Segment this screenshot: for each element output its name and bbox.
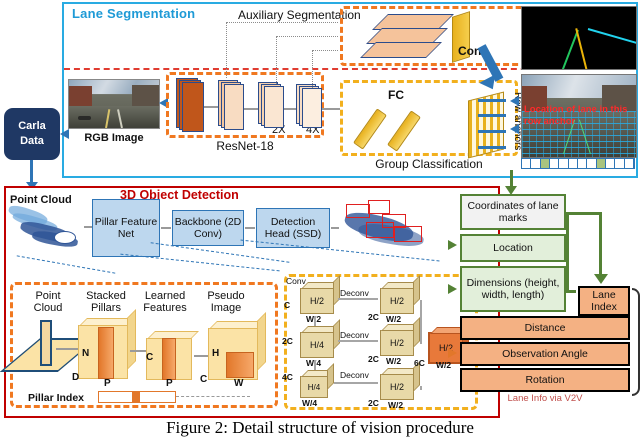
pillar-index-bar (98, 391, 176, 403)
flow-learned-to-pseudo (194, 355, 208, 357)
detail-header-learned-features: Learned Features (136, 290, 194, 314)
pseudo-image-slab (226, 352, 254, 378)
location-tick (566, 248, 569, 251)
dimensions-output-box: Dimensions (height, width, length) (460, 266, 566, 312)
arrow-to-observation-angle (448, 348, 457, 358)
aux-link-1 (226, 22, 338, 23)
merge-line-bottom (420, 386, 422, 390)
decoder-node-6: H/2 (380, 374, 414, 400)
output-brace (632, 288, 640, 396)
detail-header-pseudo-image: Pseudo Image (198, 290, 254, 314)
dim-P-stacked: P (104, 378, 111, 389)
decoder-node-6-h: H/2 (390, 382, 404, 392)
carla-data-label: Carla Data (18, 119, 46, 149)
channel-label-2C: 2C (282, 336, 293, 346)
figure-root: Lane Segmentation Auxiliary Segmentation… (0, 0, 640, 447)
arrow-to-overlay-2 (510, 124, 519, 134)
decoder-conv-label: Conv (286, 276, 306, 286)
deconv-arrow-3 (334, 382, 378, 384)
distance-label: Distance (525, 322, 566, 334)
decoder-node-6-w: W/2 (388, 400, 403, 410)
detection-head-label: Detection Head (SSD) (257, 216, 329, 240)
observation-angle-output-box: Observation Angle (460, 342, 630, 366)
figure-caption: Figure 2: Detail structure of vision pro… (0, 418, 640, 438)
pillar-index-label: Pillar Index (28, 392, 84, 404)
dimensions-label: Dimensions (height, width, length) (462, 277, 564, 301)
detail-header-point-cloud: Point Cloud (22, 290, 74, 314)
lane-index-arrowhead (594, 274, 608, 284)
aux-riser-2 (276, 36, 277, 84)
backbone-label: Backbone (2D Conv) (173, 216, 243, 240)
pillar-feature-net-block: Pillar Feature Net (92, 199, 160, 257)
dim-C-pseudo: C (200, 374, 207, 385)
row-anchor-arrow-4 (478, 146, 506, 149)
flow-pc-to-pillar (84, 226, 92, 228)
coords-to-lane-index-vline (566, 212, 569, 290)
resnet-label: ResNet-18 (166, 139, 324, 153)
dim-W-pseudo: W (234, 378, 243, 389)
aux-riser-1 (226, 22, 227, 78)
pillar-index-link (176, 396, 250, 397)
decoder-node-1: H/2 (300, 288, 334, 314)
aux-link-2 (276, 36, 338, 37)
channel-label-C: C (284, 300, 290, 310)
location-label: Location (493, 242, 533, 254)
dim-N: N (82, 348, 89, 359)
detection-result-pointcloud (336, 196, 436, 258)
merge-line-top (420, 300, 422, 344)
group-classification-label: Group Classification (340, 157, 518, 171)
deconv-arrow-2 (338, 340, 378, 342)
carla-data-block: Carla Data (4, 108, 60, 160)
row-anchor-arrow-3 (478, 130, 506, 133)
deconv-label-2: Deconv (340, 330, 369, 340)
coords-to-lane-index-hline (566, 212, 602, 215)
rotation-label: Rotation (525, 374, 564, 386)
flow-backbone-to-head (245, 227, 255, 229)
arrow-carla-to-lane (60, 129, 69, 139)
decoder-node-5: H/4 (300, 376, 328, 398)
flow-pillar-to-backbone (161, 227, 171, 229)
decoder-node-2-c: 2C (368, 312, 379, 322)
deconv-label-3: Deconv (340, 370, 369, 380)
decoder-node-6-c: 2C (368, 398, 379, 408)
rotation-output-box: Rotation (460, 368, 630, 392)
lane-overlay-caption: Location of lane in this row anchor (524, 104, 634, 128)
row-anchor-strip (521, 158, 635, 169)
backbone-block: Backbone (2D Conv) (172, 210, 244, 246)
row-anchor-arrow-1 (478, 99, 506, 102)
decoder-output-c: 6C (414, 358, 425, 368)
deconv-arrow-1 (338, 298, 378, 300)
decoder-node-4-h: H/2 (390, 338, 404, 348)
arrow-to-overlay-1 (510, 96, 519, 106)
decoder-node-4: H/2 (380, 330, 414, 356)
flow-4 (322, 108, 340, 110)
dim-H-pseudo: H (212, 348, 219, 359)
deconv-label-1: Deconv (340, 288, 369, 298)
decoder-node-2: H/2 (380, 288, 414, 314)
flow-pc-to-stacked (56, 348, 78, 350)
fc-label: FC (388, 88, 404, 102)
rgb-image-label: RGB Image (74, 132, 154, 144)
decoder-node-2-w: W/2 (386, 314, 401, 324)
decoder-node-4-w: W/2 (386, 356, 401, 366)
lane-index-label: Lane Index (580, 289, 628, 313)
detail-header-stacked-pillars: Stacked Pillars (78, 290, 134, 314)
lane-index-box: Lane Index (578, 286, 630, 316)
aux-link-3 (312, 50, 338, 51)
dim-C-learned: C (146, 352, 153, 363)
decoder-node-3-h: H/4 (310, 340, 324, 350)
decoder-node-1-h: H/2 (310, 296, 324, 306)
point-cloud-visualization (6, 205, 88, 253)
flow-stacked-to-learned (130, 350, 146, 352)
row-anchor-arrow-2 (478, 114, 506, 117)
coordinates-label: Coordinates of lane marks (462, 200, 564, 224)
distance-output-box: Distance (460, 316, 630, 340)
decoder-node-5-h: H/4 (308, 383, 320, 392)
decoder-node-3: H/4 (300, 332, 334, 358)
location-output-box: Location (460, 234, 566, 262)
v2v-note: Lane Info via V2V (460, 393, 630, 404)
decoder-node-2-h: H/2 (390, 296, 404, 306)
pillar-glyph (40, 320, 52, 366)
lane-index-drop (599, 212, 602, 276)
arrow-to-dimensions (448, 284, 457, 294)
lane-segmentation-title: Lane Segmentation (72, 6, 195, 21)
lane-mask-image (521, 6, 637, 70)
arrow-to-location (448, 240, 457, 250)
observation-angle-label: Observation Angle (502, 348, 588, 360)
channel-label-4C: 4C (282, 372, 293, 382)
decoder-output-w: W/2 (436, 360, 451, 370)
coordinates-output-box: Coordinates of lane marks (460, 194, 566, 230)
learned-features-slab (162, 338, 176, 380)
decoder-node-4-c: 2C (368, 354, 379, 364)
pillar-feature-net-label: Pillar Feature Net (93, 216, 159, 240)
dims-to-lane-index (566, 290, 576, 293)
rgb-input-image (68, 79, 160, 129)
stacked-pillars-slab (98, 327, 114, 379)
dim-D: D (72, 372, 79, 383)
aux-riser-3 (312, 50, 313, 88)
decoder-node-5-w: W/4 (302, 398, 317, 408)
dim-P-learned: P (166, 378, 173, 389)
